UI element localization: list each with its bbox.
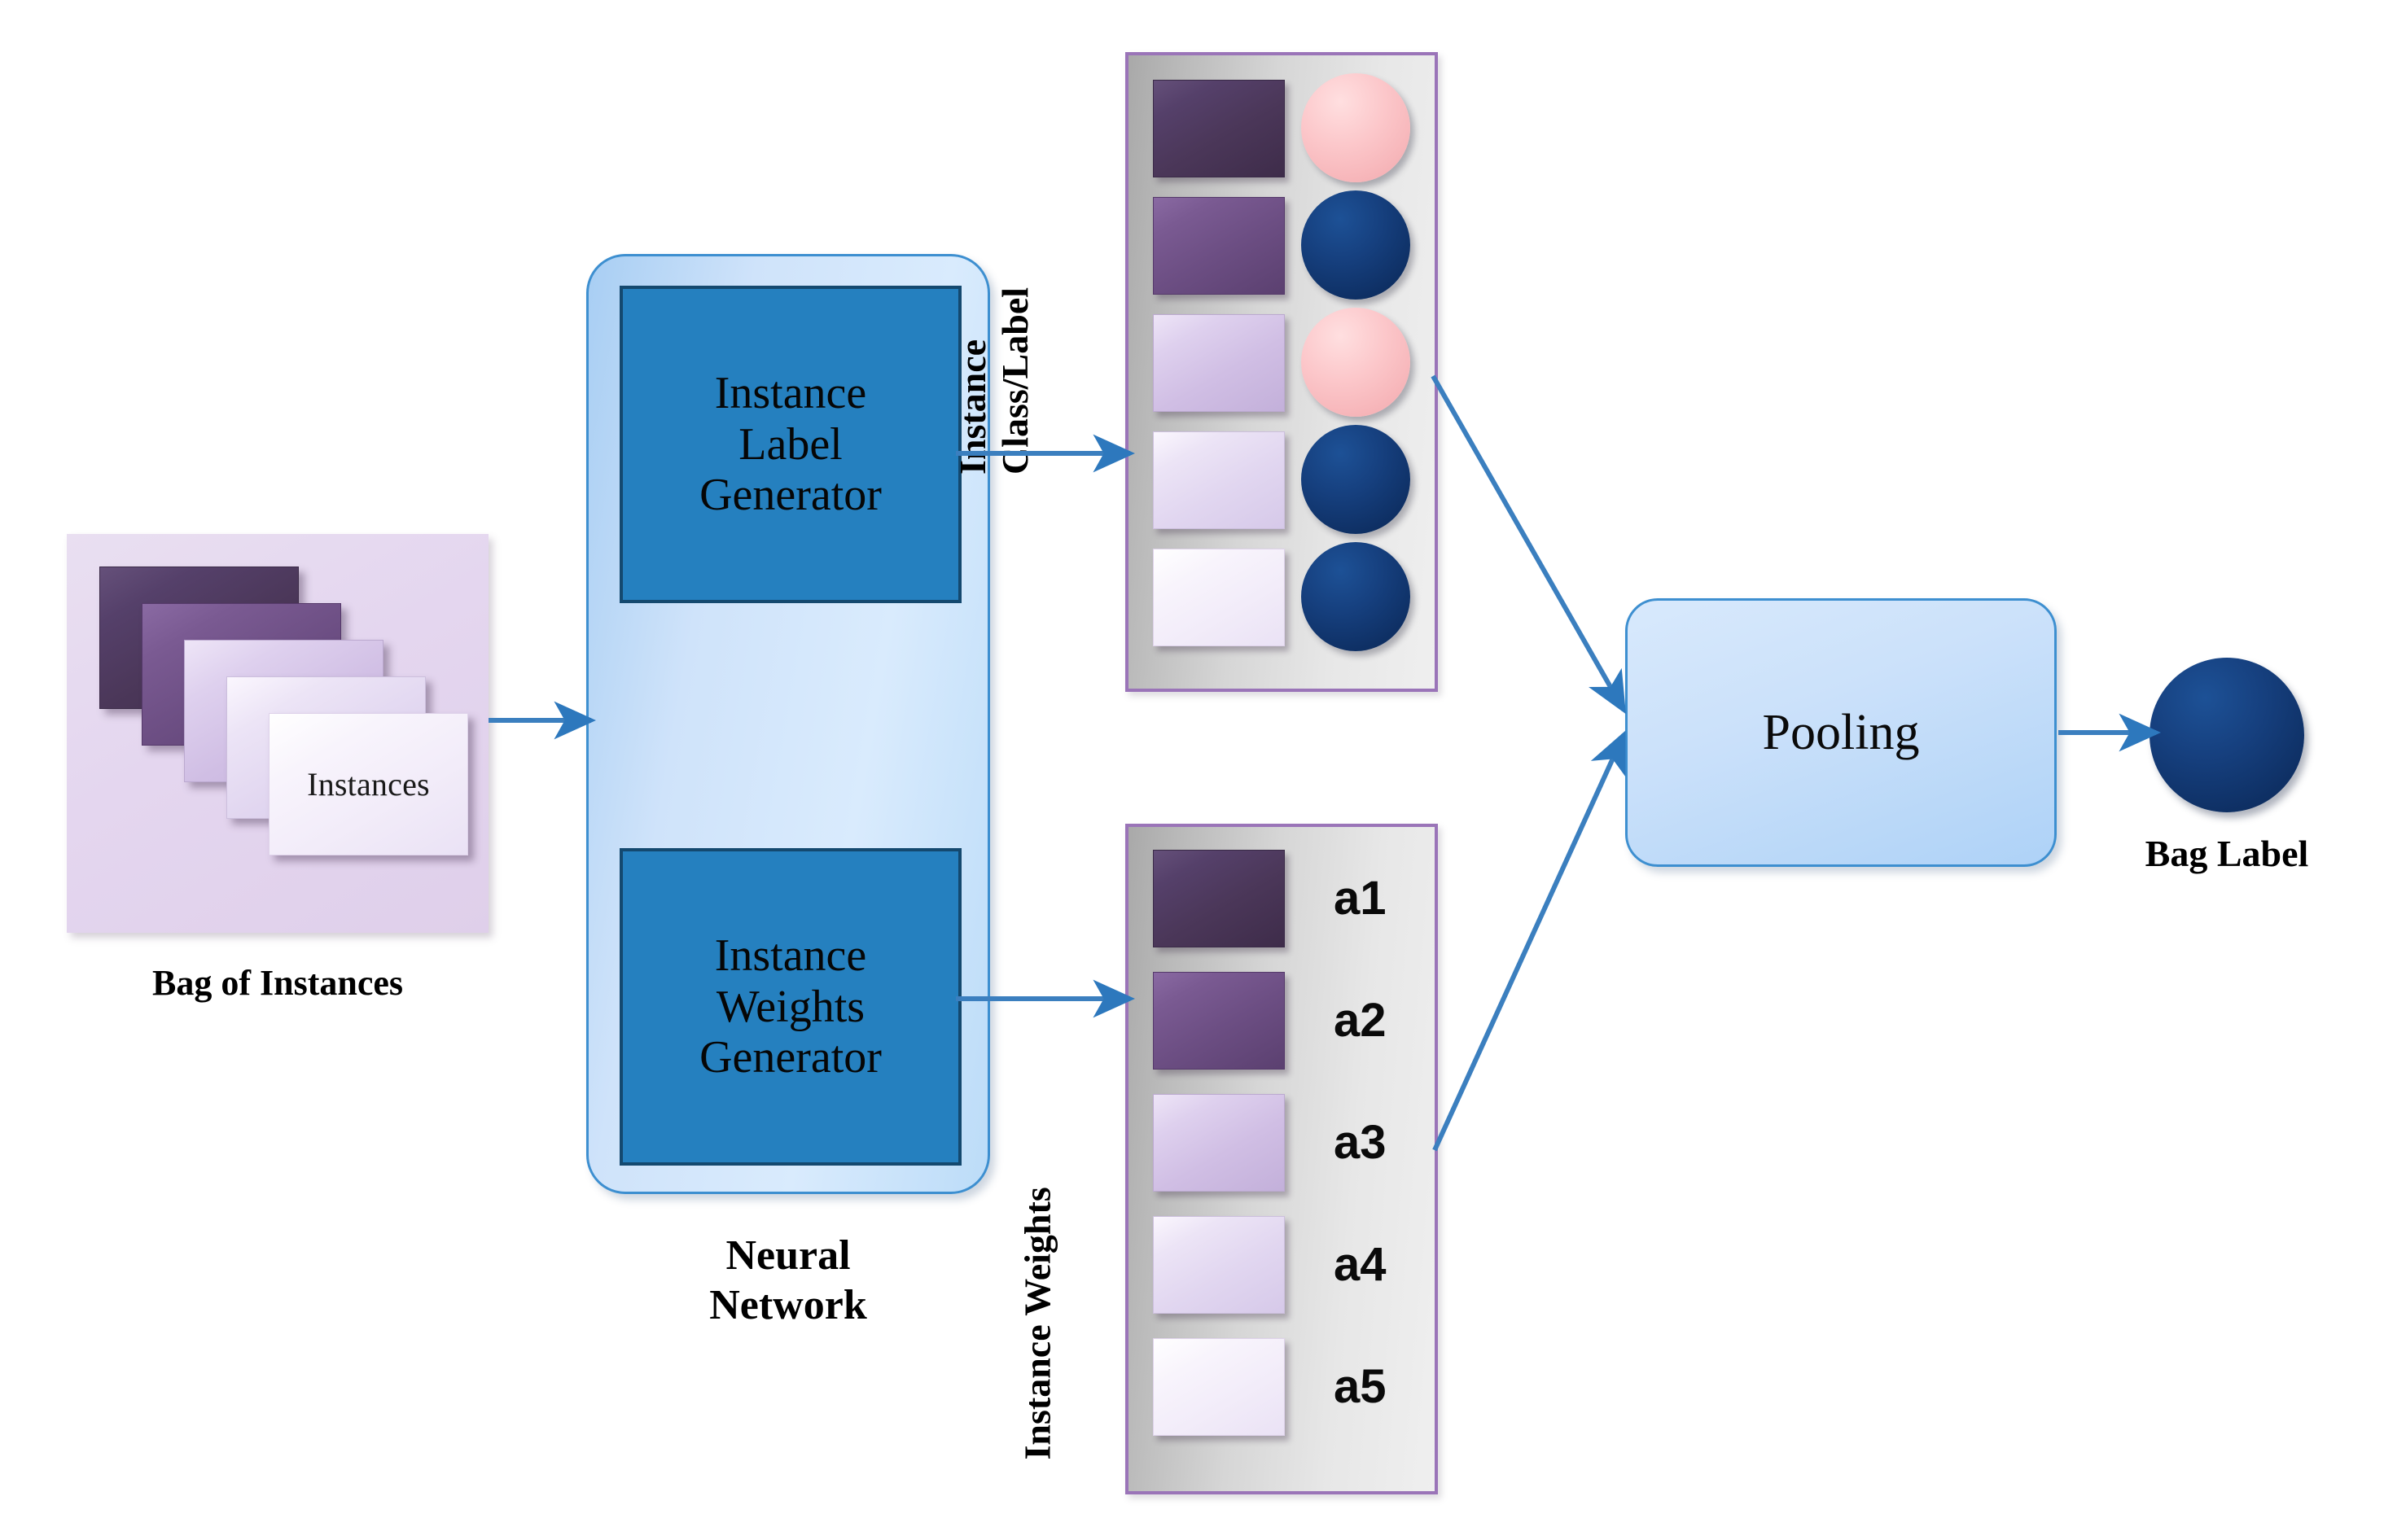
class-bubble-3-pink — [1301, 308, 1410, 417]
class-chip-5 — [1153, 549, 1285, 646]
weight-chip-3 — [1153, 1094, 1285, 1192]
instance-card-5-face: Instances — [269, 713, 468, 855]
weight-label-a2: a2 — [1334, 993, 1387, 1048]
pooling-block: Pooling — [1625, 598, 2057, 867]
instance-weights-generator-block: Instance Weights Generator — [620, 848, 962, 1166]
bag-label-caption: Bag Label — [2093, 832, 2361, 875]
weight-chip-4 — [1153, 1216, 1285, 1314]
class-bubble-2-navy — [1301, 190, 1410, 300]
bag-label-circle — [2150, 658, 2304, 812]
class-chip-2 — [1153, 197, 1285, 295]
weight-label-a5: a5 — [1334, 1359, 1387, 1414]
bag-of-instances-panel: Instances — [67, 534, 489, 933]
bag-of-instances-caption: Bag of Instances — [67, 962, 489, 1004]
weight-chip-1 — [1153, 850, 1285, 947]
pooling-label: Pooling — [1763, 704, 1920, 762]
instance-card-5: Instances — [269, 713, 468, 855]
diagram-canvas: Instances Bag of Instances Instance Labe… — [0, 0, 2384, 1540]
instance-class-label-panel — [1125, 52, 1438, 692]
neural-network-caption: Neural Network — [586, 1231, 990, 1331]
weight-label-a1: a1 — [1334, 871, 1387, 925]
class-bubble-5-navy — [1301, 542, 1410, 651]
class-bubble-4-navy — [1301, 425, 1410, 534]
weight-label-a3: a3 — [1334, 1115, 1387, 1170]
weight-chip-5 — [1153, 1338, 1285, 1436]
instance-weights-caption: Instance Weights — [1016, 1053, 1058, 1460]
arrow-class-panel-to-pooling — [1433, 376, 1624, 710]
class-bubble-1-pink — [1301, 73, 1410, 182]
neural-network-container: Instance Label Generator Instance Weight… — [586, 254, 990, 1194]
weight-chip-2 — [1153, 972, 1285, 1070]
class-chip-4 — [1153, 431, 1285, 529]
class-chip-1 — [1153, 80, 1285, 177]
arrow-weights-panel-to-pooling — [1435, 735, 1624, 1150]
instance-class-label-caption: Instance Class/Label — [952, 100, 1036, 475]
weight-label-a4: a4 — [1334, 1237, 1387, 1292]
instance-label-generator-block: Instance Label Generator — [620, 286, 962, 603]
instance-weights-generator-label: Instance Weights Generator — [699, 930, 882, 1083]
instance-label-generator-label: Instance Label Generator — [699, 368, 882, 521]
instances-card-text: Instances — [307, 765, 430, 803]
class-chip-3 — [1153, 314, 1285, 412]
instance-weights-panel: a1 a2 a3 a4 a5 — [1125, 824, 1438, 1494]
